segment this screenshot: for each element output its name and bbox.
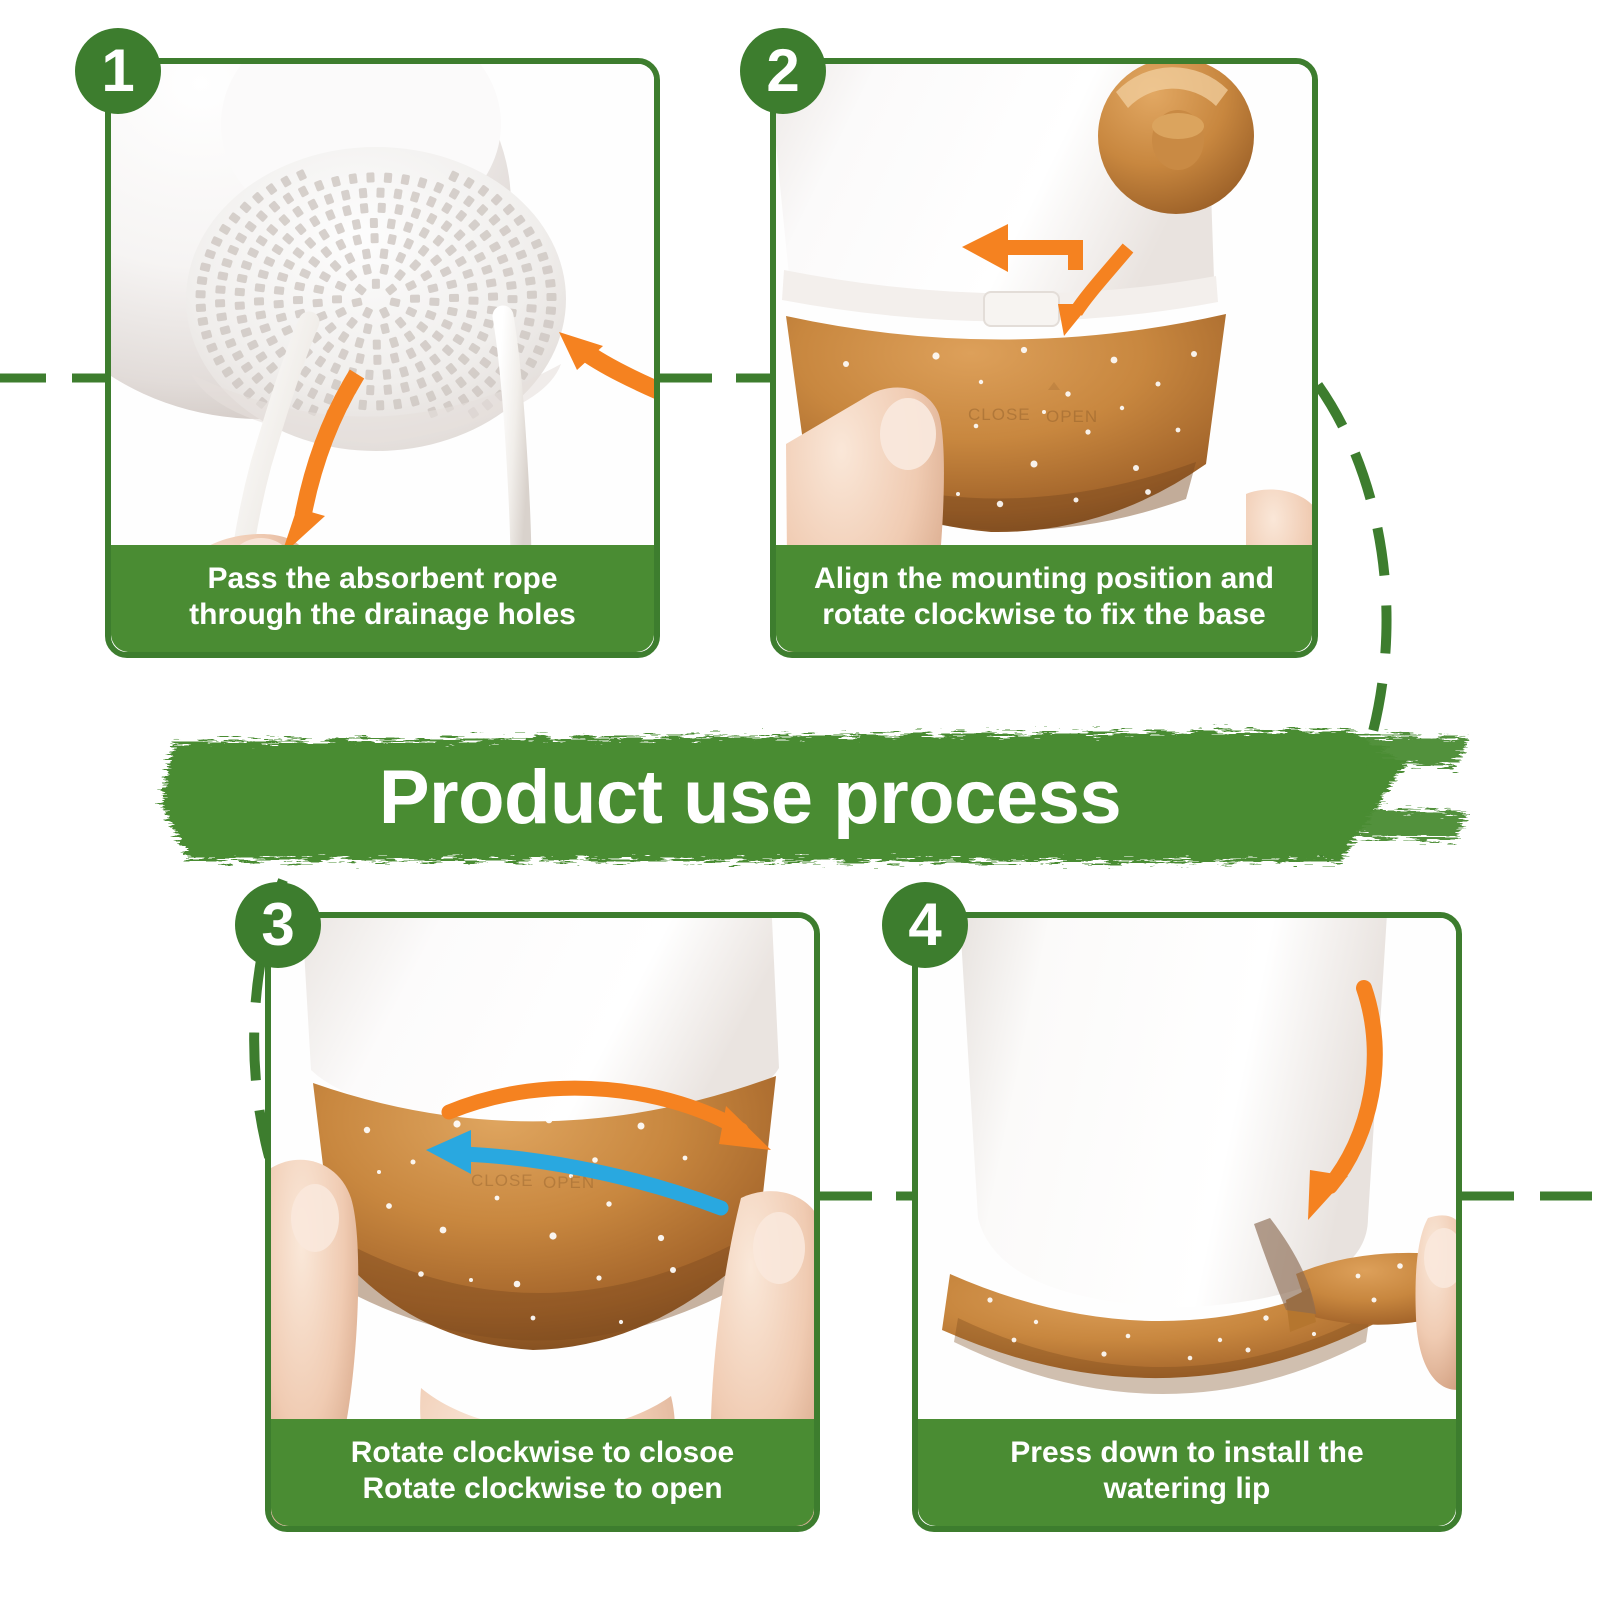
step-panel-4: Press down to install the watering lip 4 (912, 912, 1462, 1532)
step-panel-3: CLOSE OPEN (265, 912, 820, 1532)
fingernail-left (291, 1184, 339, 1252)
step-4-badge: 4 (882, 882, 968, 968)
step-3-frame: CLOSE OPEN (265, 912, 820, 1532)
step-2-badge: 2 (740, 28, 826, 114)
step-3-caption: Rotate clockwise to closoe Rotate clockw… (271, 1419, 814, 1526)
step-4-caption: Press down to install the watering lip (918, 1419, 1456, 1526)
step-1-badge: 1 (75, 28, 161, 114)
title-text: Product use process (150, 712, 1470, 882)
knob-detail-inset (1098, 64, 1254, 214)
step-2-frame: CLOSE OPEN (770, 58, 1318, 658)
step-panel-2: CLOSE OPEN (770, 58, 1318, 658)
emboss-open-label: OPEN (1046, 407, 1098, 426)
step-1-frame: Pass the absorbent rope through the drai… (105, 58, 660, 658)
step-2-caption: Align the mounting position and rotate c… (776, 545, 1312, 652)
step-3-badge: 3 (235, 882, 321, 968)
fingernail (880, 398, 936, 470)
fingernail-right (753, 1212, 805, 1284)
alignment-tab (984, 292, 1059, 326)
infographic-root: Pass the absorbent rope through the drai… (0, 0, 1600, 1600)
title-banner: Product use process (150, 712, 1470, 882)
step-panel-1: Pass the absorbent rope through the drai… (105, 58, 660, 658)
step-4-frame: Press down to install the watering lip (912, 912, 1462, 1532)
pot-body-shape (958, 918, 1388, 1308)
emboss-close-label: CLOSE (968, 405, 1031, 424)
emboss-close-label: CLOSE (471, 1171, 534, 1190)
step-1-caption: Pass the absorbent rope through the drai… (111, 545, 654, 652)
